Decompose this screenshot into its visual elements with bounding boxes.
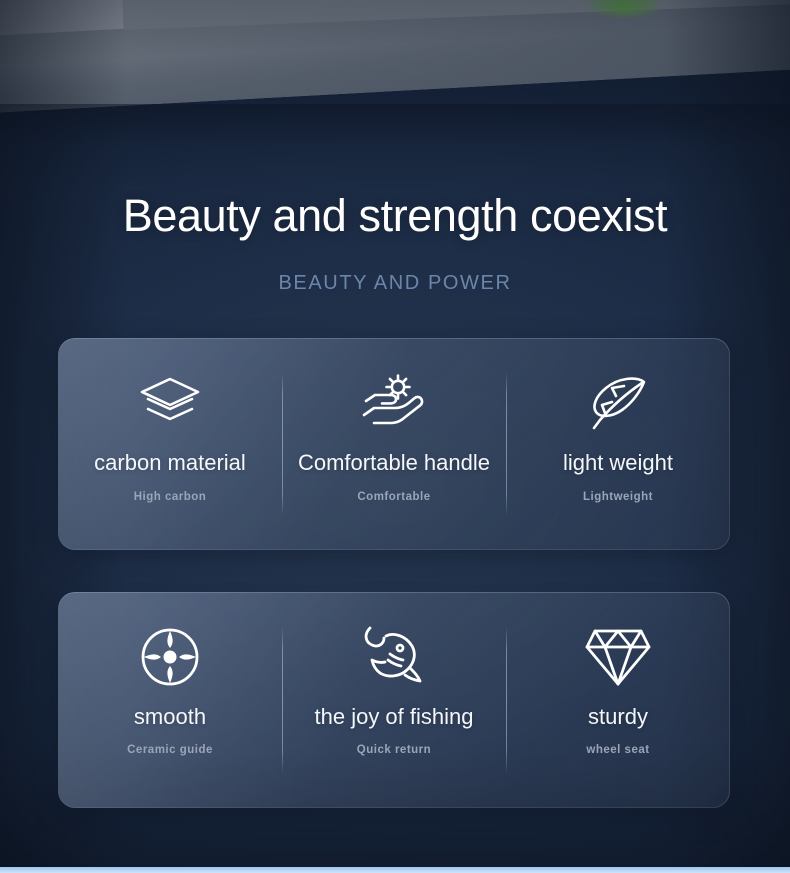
feature-item-light-weight[interactable]: light weight Lightweight xyxy=(506,338,730,550)
diamond-icon xyxy=(585,618,651,696)
feature-sublabel: Ceramic guide xyxy=(127,744,213,756)
feature-sublabel: Lightweight xyxy=(583,491,653,503)
feature-item-joy-of-fishing[interactable]: the joy of fishing Quick return xyxy=(282,592,506,808)
layers-icon xyxy=(138,366,202,444)
feature-label: smooth xyxy=(134,706,206,728)
next-section-strip xyxy=(0,867,790,873)
feature-sublabel: wheel seat xyxy=(586,744,649,756)
feather-icon xyxy=(584,366,652,444)
feature-label: the joy of fishing xyxy=(315,706,474,728)
feature-card-top: carbon material High carbon Comfortable … xyxy=(58,338,730,550)
page-subtitle: BEAUTY AND POWER xyxy=(0,272,790,295)
feature-label: sturdy xyxy=(588,706,648,728)
feature-row: smooth Ceramic guide the joy of fishin xyxy=(58,592,730,808)
feature-sublabel: Comfortable xyxy=(357,491,430,503)
fish-hook-icon xyxy=(358,618,430,696)
product-feature-page: Beauty and strength coexist BEAUTY AND P… xyxy=(0,0,790,873)
feature-item-smooth[interactable]: smooth Ceramic guide xyxy=(58,592,282,808)
feature-label: Comfortable handle xyxy=(298,452,490,474)
feature-card-bottom: smooth Ceramic guide the joy of fishin xyxy=(58,592,730,808)
feature-item-sturdy[interactable]: sturdy wheel seat xyxy=(506,592,730,808)
hand-gear-icon xyxy=(358,366,430,444)
feature-label: light weight xyxy=(563,452,673,474)
feature-item-carbon-material[interactable]: carbon material High carbon xyxy=(58,338,282,550)
guide-ring-icon xyxy=(138,618,202,696)
page-title: Beauty and strength coexist xyxy=(0,190,790,242)
feature-sublabel: Quick return xyxy=(357,744,431,756)
feature-row: carbon material High carbon Comfortable … xyxy=(58,338,730,550)
feature-label: carbon material xyxy=(94,452,246,474)
photo-drop-shadow xyxy=(0,104,790,148)
feature-item-comfortable-handle[interactable]: Comfortable handle Comfortable xyxy=(282,338,506,550)
feature-sublabel: High carbon xyxy=(134,491,207,503)
